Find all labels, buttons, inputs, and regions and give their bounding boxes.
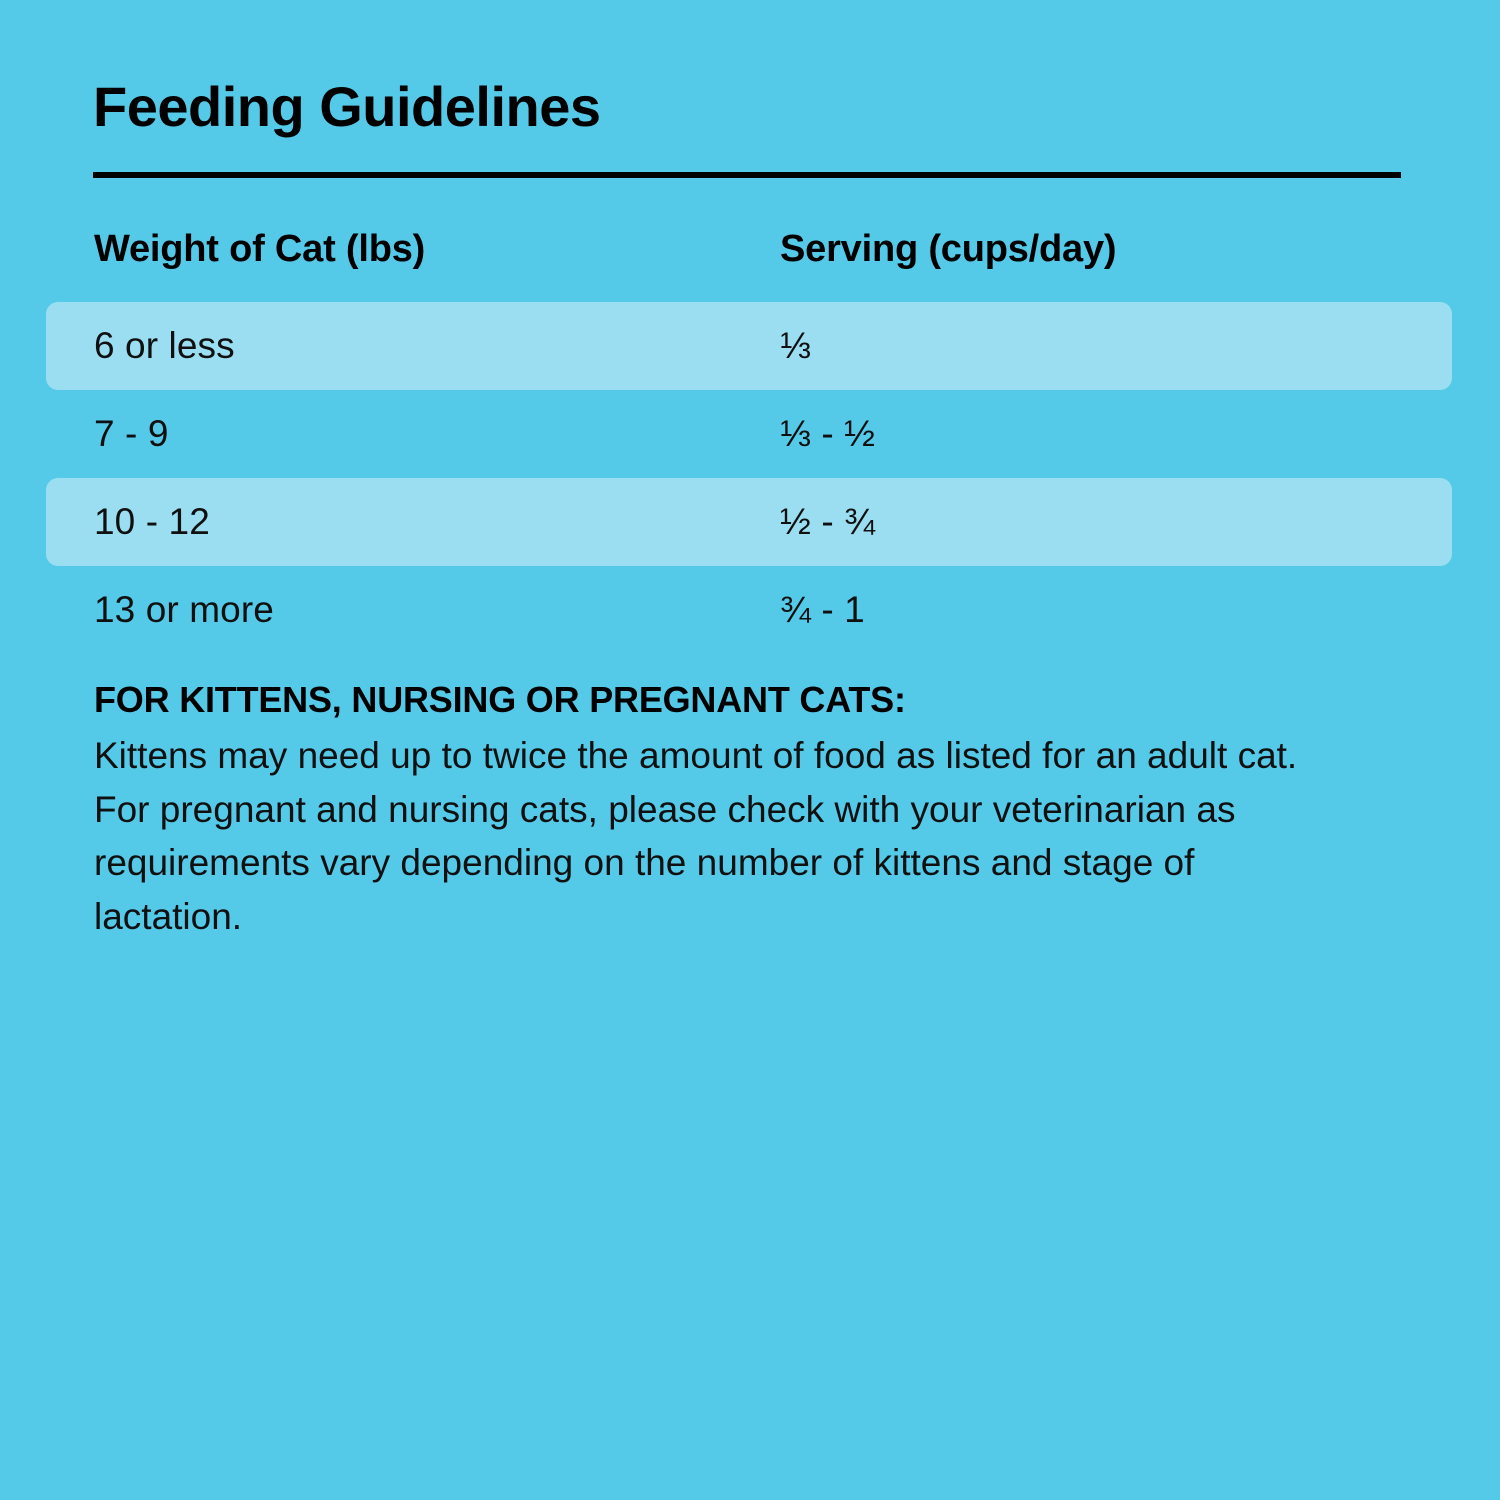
cell-weight: 6 or less bbox=[94, 325, 235, 367]
kitten-note-heading: FOR KITTENS, NURSING OR PREGNANT CATS: bbox=[94, 678, 1324, 721]
feeding-guidelines-panel: Feeding Guidelines Weight of Cat (lbs) S… bbox=[0, 0, 1500, 1500]
cell-weight: 7 - 9 bbox=[94, 413, 169, 455]
cell-serving: ⅓ - ½ bbox=[780, 413, 875, 455]
kitten-note: FOR KITTENS, NURSING OR PREGNANT CATS: K… bbox=[94, 678, 1324, 944]
column-header-weight: Weight of Cat (lbs) bbox=[94, 228, 425, 271]
row-highlight bbox=[46, 390, 1452, 478]
feeding-table: Weight of Cat (lbs) Serving (cups/day) 6… bbox=[0, 216, 1500, 654]
cell-weight: 13 or more bbox=[94, 589, 274, 631]
title-divider bbox=[93, 172, 1401, 178]
row-highlight bbox=[46, 302, 1452, 390]
table-row: 10 - 12 ½ - ¾ bbox=[0, 478, 1500, 566]
column-header-serving: Serving (cups/day) bbox=[780, 228, 1116, 271]
table-header-row: Weight of Cat (lbs) Serving (cups/day) bbox=[0, 216, 1500, 302]
page-title: Feeding Guidelines bbox=[93, 78, 601, 137]
table-row: 7 - 9 ⅓ - ½ bbox=[0, 390, 1500, 478]
cell-serving: ½ - ¾ bbox=[780, 501, 875, 543]
kitten-note-body: Kittens may need up to twice the amount … bbox=[94, 729, 1309, 944]
table-row: 6 or less ⅓ bbox=[0, 302, 1500, 390]
cell-serving: ¾ - 1 bbox=[780, 589, 865, 631]
cell-weight: 10 - 12 bbox=[94, 501, 210, 543]
table-row: 13 or more ¾ - 1 bbox=[0, 566, 1500, 654]
cell-serving: ⅓ bbox=[780, 325, 811, 367]
row-highlight bbox=[46, 478, 1452, 566]
